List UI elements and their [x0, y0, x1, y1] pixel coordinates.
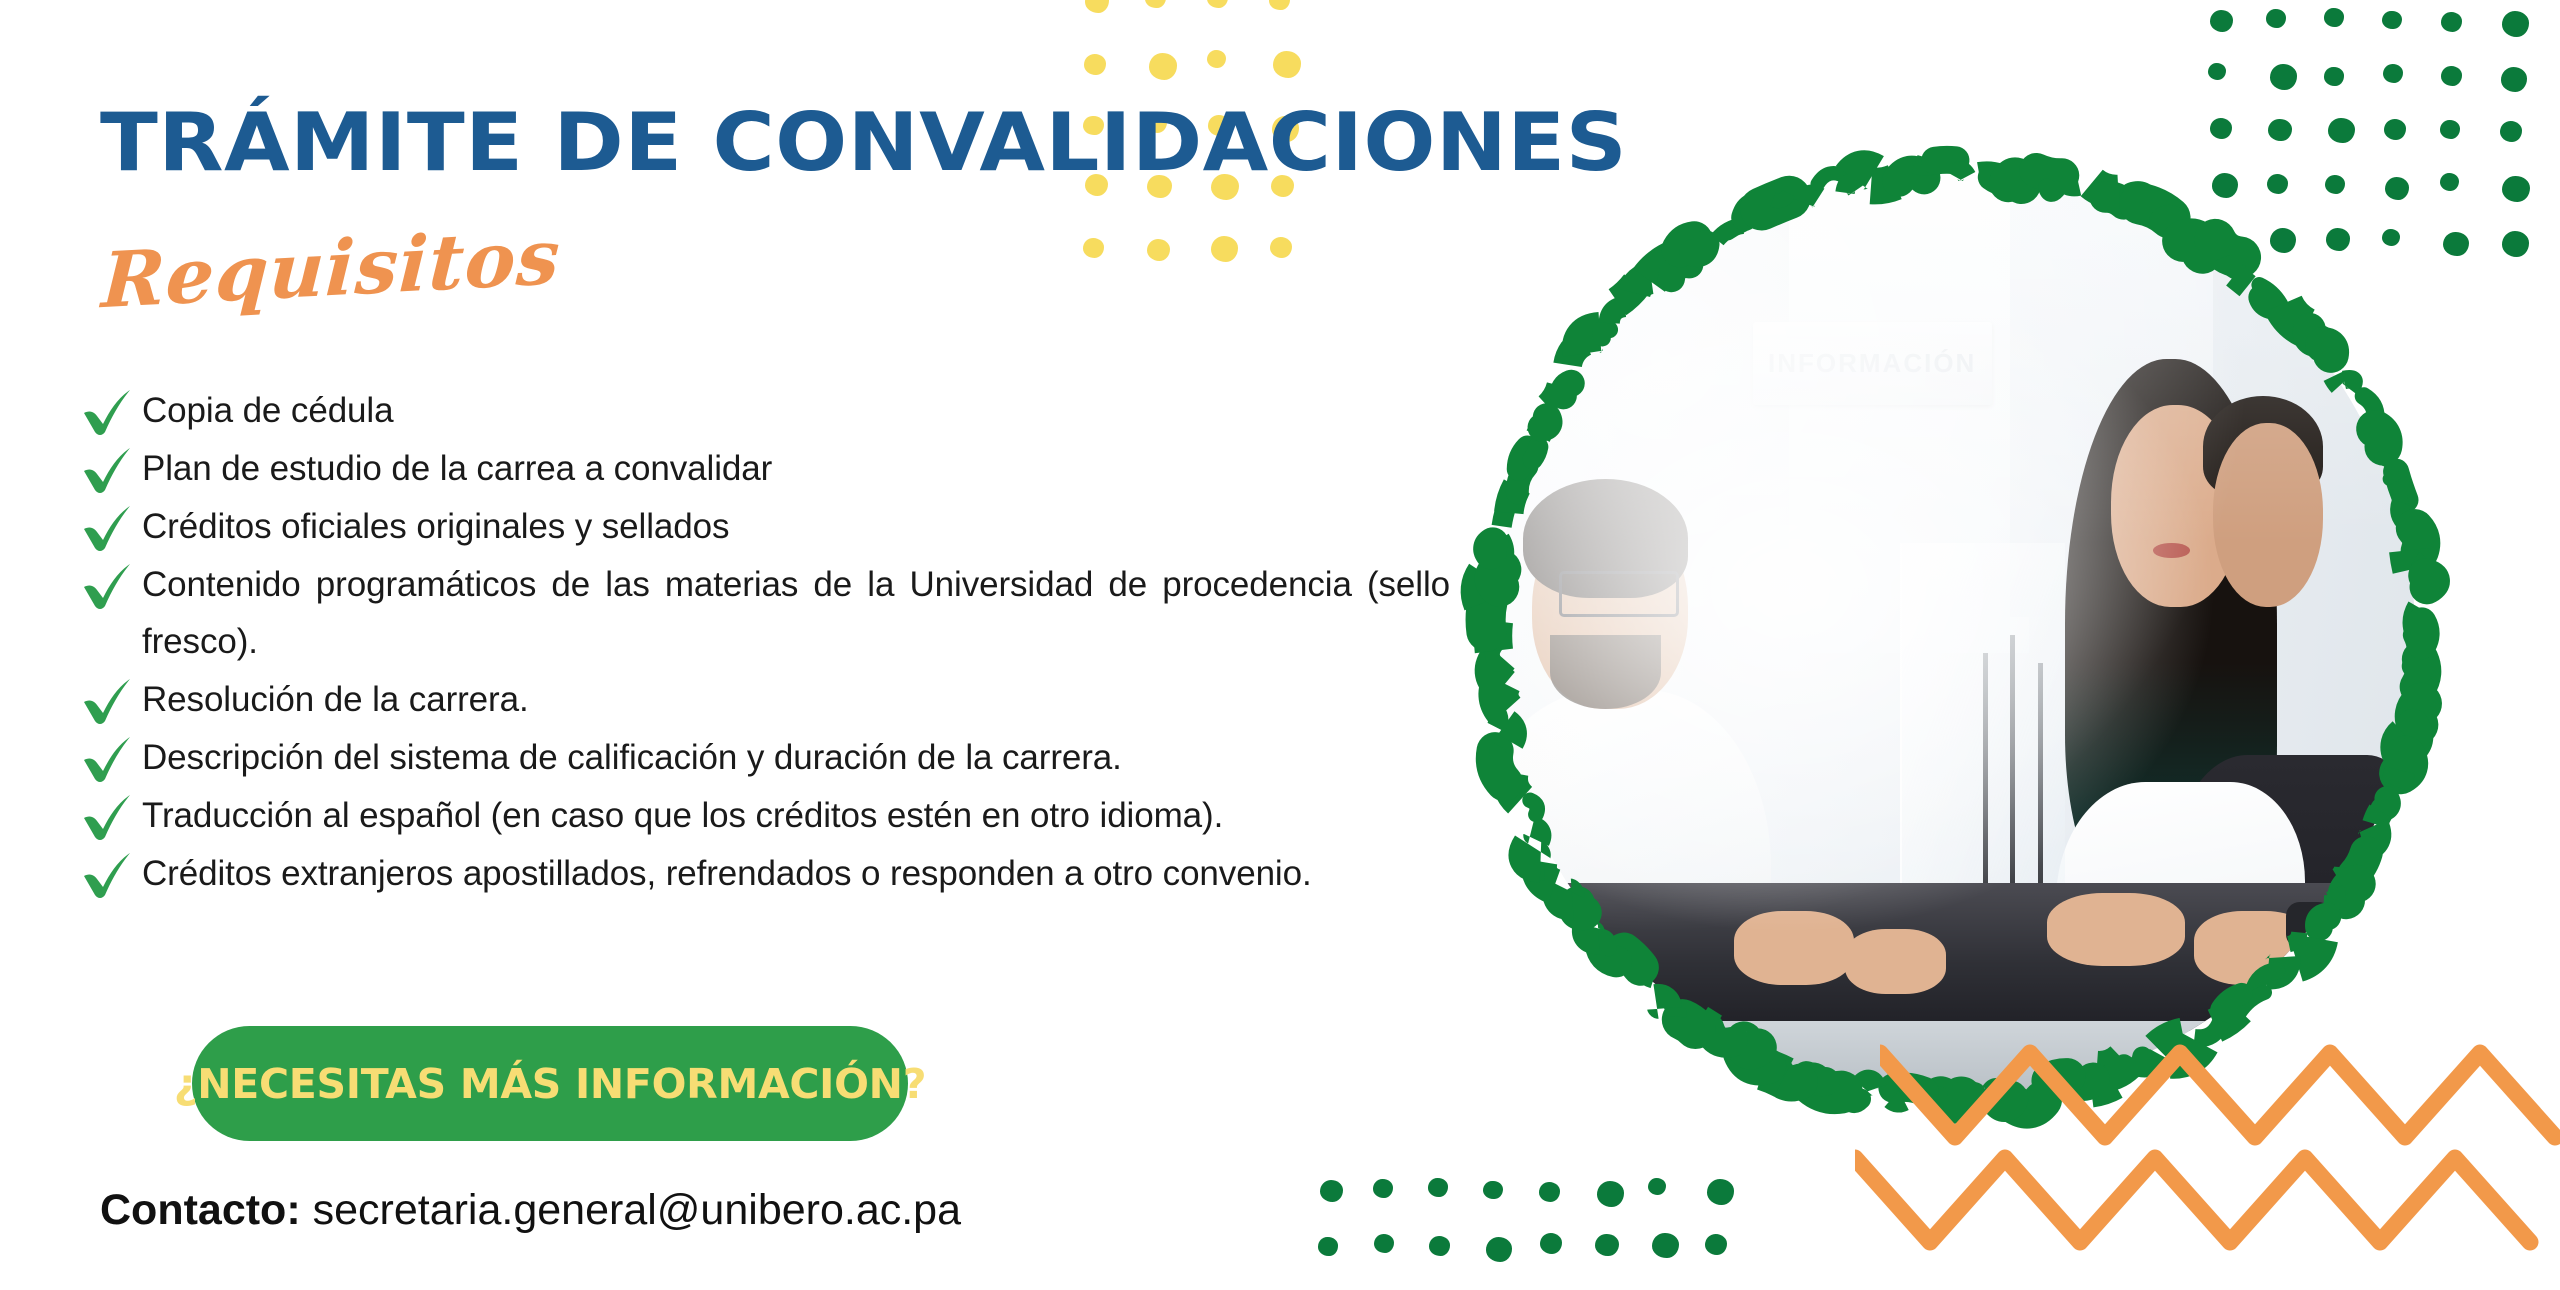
decorative-dot [1648, 1178, 1666, 1195]
check-icon [80, 386, 136, 438]
more-info-button[interactable]: ¿NECESITAS MÁS INFORMACIÓN? [192, 1026, 908, 1141]
check-icon [80, 560, 136, 612]
contact-line: Contacto: secretaria.general@unibero.ac.… [100, 1186, 961, 1235]
requirement-text: Créditos oficiales originales y sellados [142, 498, 1450, 555]
green-dot-pattern-bottom [1320, 1180, 1760, 1290]
decorative-dot [1149, 53, 1177, 80]
decorative-dot [2502, 11, 2529, 37]
requirement-text: Copia de cédula [142, 382, 1450, 439]
brush-ring-decoration [1455, 135, 2455, 1135]
decorative-dot [1652, 1233, 1679, 1259]
decorative-dot [1707, 1179, 1734, 1205]
subtitle-requisitos: Requisitos [100, 212, 563, 325]
orange-zigzag-lower [1855, 1135, 2560, 1265]
decorative-dot [1318, 1237, 1337, 1255]
decorative-dot [2210, 10, 2233, 32]
decorative-dot [2383, 64, 2403, 83]
requirements-list: Copia de cédula Plan de estudio de la ca… [80, 382, 1450, 903]
decorative-dot [1539, 1182, 1560, 1202]
decorative-dot [2382, 11, 2401, 29]
decorative-dot [2501, 67, 2527, 92]
requirement-text: Contenido programáticos de las materias … [142, 556, 1450, 670]
requirement-text: Resolución de la carrera. [142, 671, 1450, 728]
check-icon [80, 791, 136, 843]
decorative-dot [1211, 236, 1238, 262]
decorative-dot [2502, 231, 2529, 257]
decorative-dot [1374, 1234, 1394, 1253]
contact-email[interactable]: secretaria.general@unibero.ac.pa [313, 1186, 961, 1234]
requirement-item: Créditos extranjeros apostillados, refre… [80, 845, 1450, 902]
requirement-item: Copia de cédula [80, 382, 1450, 439]
requirement-item: Resolución de la carrera. [80, 671, 1450, 728]
poster-canvas: TRÁMITE DE CONVALIDACIONES Requisitos Co… [0, 0, 2560, 1280]
decorative-dot [1429, 1236, 1450, 1256]
requirement-item: Descripción del sistema de calificación … [80, 729, 1450, 786]
page-title: TRÁMITE DE CONVALIDACIONES [100, 96, 1627, 189]
photo-circle: INFORMACIÓN [1455, 135, 2455, 1135]
check-icon [80, 444, 136, 496]
decorative-dot [1083, 238, 1104, 258]
decorative-dot [1269, 0, 1289, 10]
requirement-text: Plan de estudio de la carrea a convalida… [142, 440, 1450, 497]
requirement-item: Traducción al español (en caso que los c… [80, 787, 1450, 844]
check-icon [80, 502, 136, 554]
decorative-dot [1597, 1181, 1624, 1207]
decorative-dot [1483, 1181, 1502, 1199]
decorative-dot [1273, 51, 1301, 77]
check-icon [80, 675, 136, 727]
decorative-dot [1147, 239, 1170, 261]
decorative-dot [1207, 50, 1226, 68]
contact-label: Contacto: [100, 1186, 301, 1234]
decorative-dot [1084, 54, 1106, 75]
decorative-dot [1595, 1234, 1618, 1256]
decorative-dot [2441, 12, 2462, 32]
check-icon [80, 733, 136, 785]
decorative-dot [1320, 1180, 1343, 1202]
decorative-dot [1145, 0, 1166, 8]
decorative-dot [1540, 1233, 1562, 1254]
requirement-text: Créditos extranjeros apostillados, refre… [142, 845, 1450, 902]
decorative-dot [2500, 121, 2522, 142]
decorative-dot [2266, 9, 2286, 28]
decorative-dot [2208, 63, 2226, 80]
more-info-button-label: ¿NECESITAS MÁS INFORMACIÓN? [174, 1060, 926, 1108]
requirement-text: Descripción del sistema de calificación … [142, 729, 1450, 786]
decorative-dot [1486, 1237, 1512, 1262]
decorative-dot [2324, 8, 2344, 27]
decorative-dot [1207, 0, 1228, 8]
check-icon [80, 849, 136, 901]
requirement-item: Contenido programáticos de las materias … [80, 556, 1450, 670]
requirement-item: Créditos oficiales originales y sellados [80, 498, 1450, 555]
decorative-dot [1428, 1178, 1448, 1197]
requirement-text: Traducción al español (en caso que los c… [142, 787, 1450, 844]
decorative-dot [1085, 0, 1109, 13]
decorative-dot [1373, 1179, 1393, 1198]
decorative-dot [1270, 237, 1292, 258]
requirement-item: Plan de estudio de la carrea a convalida… [80, 440, 1450, 497]
decorative-dot [2441, 66, 2462, 86]
decorative-dot [2270, 64, 2297, 90]
decorative-dot [2324, 67, 2343, 85]
decorative-dot [2502, 176, 2530, 202]
decorative-dot [1705, 1234, 1727, 1255]
